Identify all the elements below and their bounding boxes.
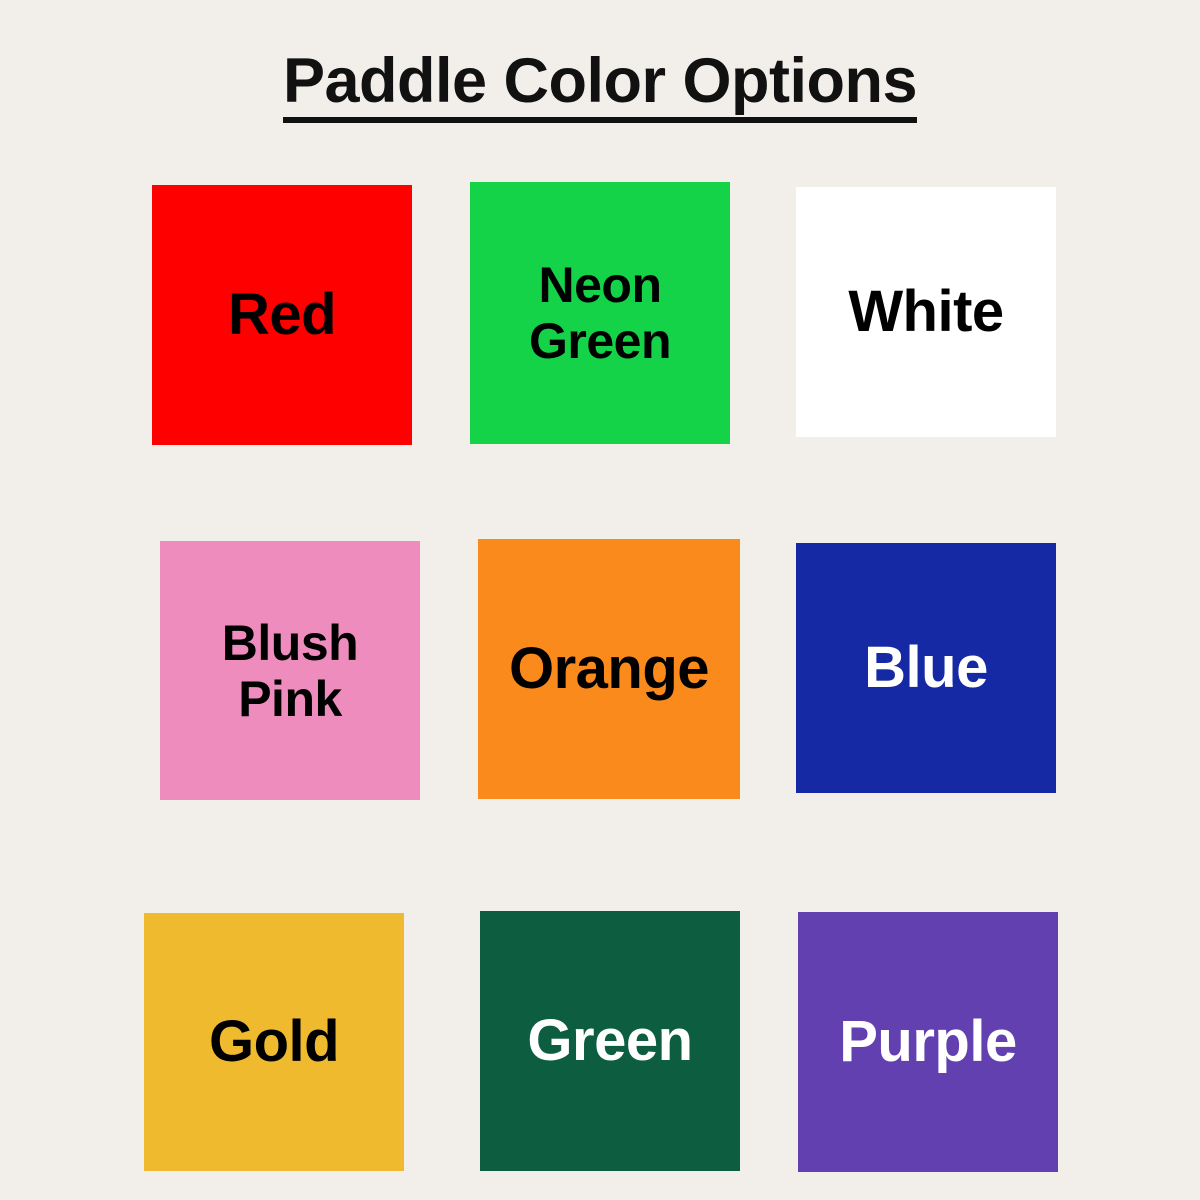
color-swatch-label: Green — [521, 1009, 698, 1074]
color-swatch-blush-pink[interactable]: Blush Pink — [160, 541, 420, 800]
color-swatch-green[interactable]: Green — [480, 911, 740, 1171]
color-swatch-label: Orange — [503, 637, 715, 702]
color-swatch-label: Neon Green — [523, 257, 677, 369]
color-swatch-gold[interactable]: Gold — [144, 913, 404, 1171]
paddle-color-options-page: Paddle Color Options RedNeon GreenWhiteB… — [0, 0, 1200, 1200]
color-swatch-label: White — [842, 280, 1009, 345]
color-swatch-label: Purple — [833, 1010, 1023, 1075]
color-swatch-neon-green[interactable]: Neon Green — [470, 182, 730, 444]
color-swatch-purple[interactable]: Purple — [798, 912, 1058, 1172]
color-swatch-label: Blue — [858, 636, 994, 701]
color-swatch-white[interactable]: White — [796, 187, 1056, 437]
color-swatch-blue[interactable]: Blue — [796, 543, 1056, 793]
color-swatch-label: Gold — [203, 1010, 345, 1075]
color-swatch-label: Blush Pink — [216, 615, 364, 727]
color-swatch-red[interactable]: Red — [152, 185, 412, 445]
color-swatch-label: Red — [222, 283, 342, 348]
color-swatch-orange[interactable]: Orange — [478, 539, 740, 799]
color-swatch-grid: RedNeon GreenWhiteBlush PinkOrangeBlueGo… — [0, 0, 1200, 1200]
